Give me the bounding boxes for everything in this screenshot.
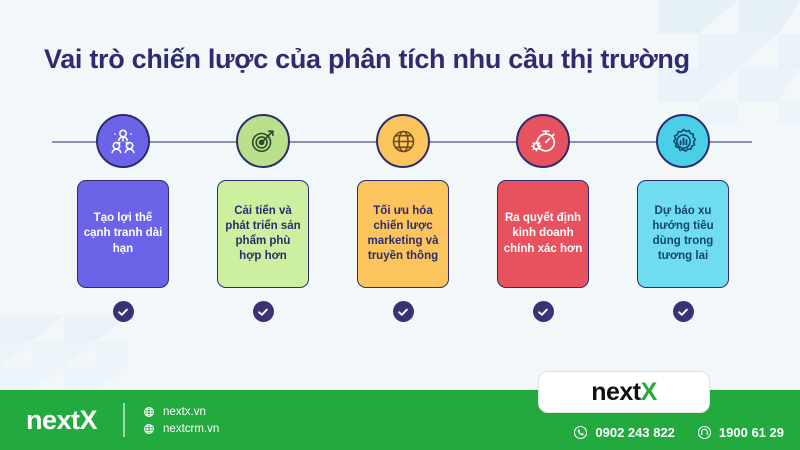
step-card[interactable]: Cải tiến và phát triển sản phẩm phù hợp … xyxy=(217,180,309,288)
footer-site-link[interactable]: nextcrm.vn xyxy=(143,423,219,435)
step-label: Dự báo xu hướng tiêu dùng trong tương la… xyxy=(643,204,723,265)
check-icon xyxy=(113,301,134,322)
step-label: Tạo lợi thế cạnh tranh dài hạn xyxy=(83,211,163,257)
brand-logo-last: X xyxy=(641,378,657,407)
footer-site-link[interactable]: nextx.vn xyxy=(143,406,219,418)
check-icon xyxy=(253,301,274,322)
timeline-step-3[interactable]: Tối ưu hóa chiến lược marketing và truyề… xyxy=(343,114,463,322)
check-icon xyxy=(673,301,694,322)
step-card[interactable]: Tối ưu hóa chiến lược marketing và truyề… xyxy=(357,180,449,288)
timeline-step-2[interactable]: Cải tiến và phát triển sản phẩm phù hợp … xyxy=(203,114,323,322)
footer-phone-label: 0902 243 822 xyxy=(595,425,675,440)
hotline-icon xyxy=(697,425,712,440)
footer-site-list: nextx.vn nextcrm.vn xyxy=(143,406,219,435)
timeline-step-4[interactable]: Ra quyết định kinh doanh chính xác hơn xyxy=(483,114,603,322)
step-label: Cải tiến và phát triển sản phẩm phù hợp … xyxy=(223,204,303,265)
check-icon xyxy=(393,301,414,322)
step-label: Ra quyết định kinh doanh chính xác hơn xyxy=(503,211,583,257)
globe-icon xyxy=(143,406,155,418)
globe-icon xyxy=(143,423,155,435)
target-dart-icon xyxy=(236,114,290,168)
infographic-canvas: Vai trò chiến lược của phân tích nhu cầu… xyxy=(0,0,800,450)
stopwatch-gear-icon xyxy=(516,114,570,168)
decorative-pattern-bottom-left xyxy=(0,315,150,390)
step-label: Tối ưu hóa chiến lược marketing và truyề… xyxy=(363,204,443,265)
footer-logo: nextX xyxy=(26,405,97,436)
footer-phone[interactable]: 0902 243 822 xyxy=(573,425,675,440)
gear-chart-icon xyxy=(656,114,710,168)
page-title: Vai trò chiến lược của phân tích nhu cầu… xyxy=(44,44,704,75)
timeline-step-1[interactable]: Tạo lợi thế cạnh tranh dài hạn xyxy=(63,114,183,322)
footer-site-label: nextcrm.vn xyxy=(163,423,219,435)
footer-site-label: nextx.vn xyxy=(163,406,206,418)
footer-divider xyxy=(123,403,125,437)
step-card[interactable]: Ra quyết định kinh doanh chính xác hơn xyxy=(497,180,589,288)
footer-hotline[interactable]: 1900 61 29 xyxy=(697,425,784,440)
footer-contact-list: 0902 243 822 1900 61 29 xyxy=(573,425,784,440)
brand-logo-first: next xyxy=(591,378,640,407)
phone-call-icon xyxy=(573,425,588,440)
timeline-step-5[interactable]: Dự báo xu hướng tiêu dùng trong tương la… xyxy=(623,114,743,322)
brand-logo-badge: nextX xyxy=(538,371,710,413)
globe-icon xyxy=(376,114,430,168)
step-card[interactable]: Dự báo xu hướng tiêu dùng trong tương la… xyxy=(637,180,729,288)
check-icon xyxy=(533,301,554,322)
footer-hotline-label: 1900 61 29 xyxy=(719,425,784,440)
people-group-icon xyxy=(96,114,150,168)
step-card[interactable]: Tạo lợi thế cạnh tranh dài hạn xyxy=(77,180,169,288)
